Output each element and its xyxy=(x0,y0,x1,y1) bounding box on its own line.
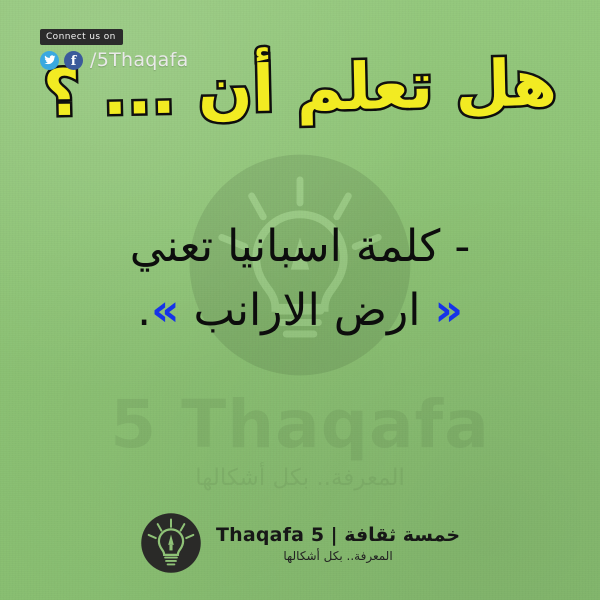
footer-tagline: المعرفة.. بكل أشكالها xyxy=(216,549,460,563)
social-links-row: f /5Thaqafa xyxy=(40,49,189,71)
social-badge: Connect us on f /5Thaqafa xyxy=(40,24,189,71)
poster-canvas: 5 Thaqafa المعرفة.. بكل أشكالها Connect … xyxy=(0,0,600,600)
watermark-tagline: المعرفة.. بكل أشكالها xyxy=(195,465,405,491)
open-guillemet: « xyxy=(434,285,462,336)
lightbulb-logo-icon xyxy=(140,512,202,574)
connect-us-on-chip: Connect us on xyxy=(40,29,123,45)
footer: خمسة ثقافة | 5 Thaqafa المعرفة.. بكل أشك… xyxy=(0,512,600,574)
body-line-2-inner: ارض الارانب xyxy=(180,285,435,336)
social-handle[interactable]: /5Thaqafa xyxy=(90,49,189,71)
footer-brand: خمسة ثقافة | 5 Thaqafa xyxy=(216,524,460,546)
watermark-brand: 5 Thaqafa xyxy=(110,386,489,463)
body-text: - كلمة اسبانيا تعني « ارض الارانب ». xyxy=(30,215,570,343)
twitter-bird-icon[interactable] xyxy=(40,51,59,70)
close-guillemet: » xyxy=(151,285,179,336)
body-line-1: - كلمة اسبانيا تعني xyxy=(30,215,570,279)
body-line-2-period: . xyxy=(137,285,151,336)
footer-text-block: خمسة ثقافة | 5 Thaqafa المعرفة.. بكل أشك… xyxy=(216,524,460,563)
body-line-2: « ارض الارانب ». xyxy=(30,279,570,343)
facebook-f-icon[interactable]: f xyxy=(64,51,83,70)
